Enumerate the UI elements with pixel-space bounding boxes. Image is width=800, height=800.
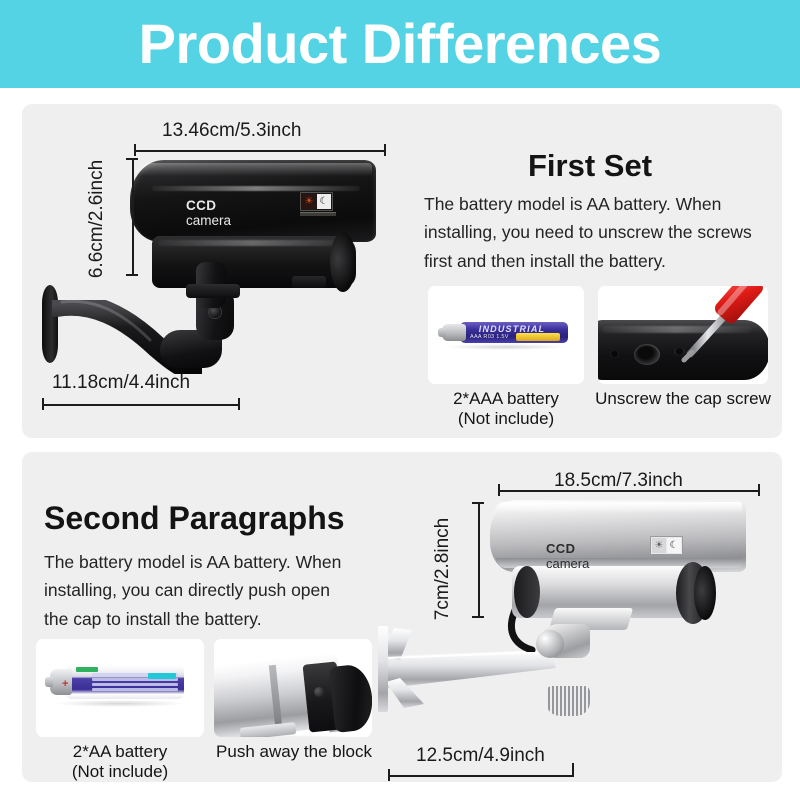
caption-line: (Not include) (28, 762, 212, 782)
dimension-label-width-silver: 18.5cm/7.3inch (554, 470, 683, 492)
dimension-line-depth-black (42, 404, 240, 406)
heading-second-paragraphs: Second Paragraphs (44, 500, 345, 537)
dimension-cap-depth-left (388, 769, 390, 781)
cap-small-hole (610, 350, 619, 358)
caption-line: Push away the block (204, 742, 384, 762)
page-title: Product Differences (139, 16, 662, 72)
camera-foot-bracket (186, 284, 240, 298)
dimension-label-width-black: 13.46cm/5.3inch (162, 120, 301, 142)
silver-knurled-nut (546, 686, 590, 716)
dimension-cap-depth-right (572, 763, 574, 777)
camera-brand-label: CCD camera (186, 198, 231, 228)
caption-line: 2*AA battery (28, 742, 212, 762)
dimension-line-height-silver (478, 502, 480, 618)
aa-battery-terminal (50, 669, 72, 695)
dimension-cap-top (126, 158, 138, 160)
dimension-line-width-black (134, 150, 386, 152)
unscrew-cap-card (598, 286, 768, 384)
dimension-cap-left (134, 144, 136, 156)
dimension-cap-bottom (472, 616, 484, 618)
dimension-line-depth-silver (388, 775, 574, 777)
dimension-label-height-black: 6.6cm/2.6inch (86, 159, 108, 279)
caption-aaa-battery: 2*AAA battery (Not include) (428, 389, 584, 430)
dimension-line-width-silver (498, 490, 760, 492)
camera-hood-highlight (136, 163, 372, 176)
header-banner: Product Differences (0, 0, 800, 88)
aaa-battery-shadow (444, 344, 568, 350)
product-differences-infographic: Product Differences CCD camera ☀ ☾ (0, 0, 800, 800)
camera-label-ccd: CCD (186, 198, 216, 213)
silver-label-ccd: CCD (546, 541, 575, 556)
dimension-label-depth-silver: 12.5cm/4.9inch (416, 745, 545, 767)
caption-aa-battery: 2*AA battery (Not include) (28, 742, 212, 783)
dimension-cap-bottom (126, 274, 138, 276)
tube-knob (314, 687, 324, 697)
camera-barrel-highlight (158, 240, 346, 246)
day-night-badge: ☀ ☾ (300, 192, 333, 211)
body-line: The battery model is AA battery. When (44, 548, 384, 576)
silver-label-camera: camera (546, 556, 589, 571)
dimension-cap-top (472, 502, 484, 504)
silver-hood-highlight (494, 502, 742, 513)
dimension-cap-depth-right (238, 398, 240, 410)
push-block-card (214, 639, 372, 737)
moon-icon: ☾ (317, 194, 331, 209)
body-first-set: The battery model is AA battery. When in… (424, 190, 774, 275)
cap-recessed-port (634, 344, 660, 365)
body-line: first and then install the battery. (424, 247, 774, 275)
dimension-label-height-silver: 7cm/2.8inch (432, 514, 454, 624)
silver-camera-brand-label: CCD camera (546, 541, 589, 571)
sun-icon: ☀ (302, 194, 316, 209)
aaa-battery-spec: AAA R03 1.5V (470, 334, 510, 341)
body-line: installing, you can directly push open (44, 576, 384, 604)
heading-first-set: First Set (528, 148, 652, 184)
body-line: installing, you need to unscrew the scre… (424, 218, 774, 246)
silver-lens (694, 566, 716, 620)
camera-lens (330, 232, 356, 292)
dimension-cap-left (498, 484, 500, 496)
aa-battery-brand-stripe (148, 673, 176, 679)
body-second-paragraphs: The battery model is AA battery. When in… (44, 548, 384, 633)
tube-shadow (218, 735, 368, 737)
aaa-battery-stripe (516, 333, 560, 341)
caption-line: Unscrew the cap screw (588, 389, 778, 409)
aa-battery-card: + (36, 639, 204, 737)
dimension-label-depth-black: 11.18cm/4.4inch (52, 372, 190, 394)
tube-end-cap (329, 663, 372, 733)
dimension-cap-depth-left (42, 398, 44, 410)
silver-day-night-badge: ☀ ☾ (650, 536, 683, 555)
badge-strip (300, 212, 336, 216)
aa-battery-shadow (54, 700, 186, 707)
aaa-battery-nub (438, 328, 446, 337)
dimension-line-height-black (132, 158, 134, 276)
silver-barrel-rear (514, 566, 540, 618)
caption-line: (Not include) (428, 409, 584, 429)
aa-battery-nub (45, 677, 53, 687)
silver-ball-joint (536, 630, 564, 658)
aa-battery-polarity: + (62, 679, 68, 690)
aaa-battery-card: INDUSTRIAL AAA R03 1.5V (428, 286, 584, 384)
camera-hood-gloss (152, 186, 360, 191)
dimension-cap-right (384, 144, 386, 156)
camera-label-camera: camera (186, 213, 231, 228)
moon-icon: ☾ (667, 538, 681, 553)
camera-side-tab (292, 276, 326, 288)
screwdriver-icon (668, 286, 768, 372)
body-line: The battery model is AA battery. When (424, 190, 774, 218)
caption-push-block: Push away the block (204, 742, 384, 762)
aa-battery-green-stripe (76, 667, 98, 672)
body-line: the cap to install the battery. (44, 605, 384, 633)
caption-unscrew-cap: Unscrew the cap screw (588, 389, 778, 409)
dimension-cap-right (758, 484, 760, 496)
sun-icon: ☀ (652, 538, 666, 553)
caption-line: 2*AAA battery (428, 389, 584, 409)
